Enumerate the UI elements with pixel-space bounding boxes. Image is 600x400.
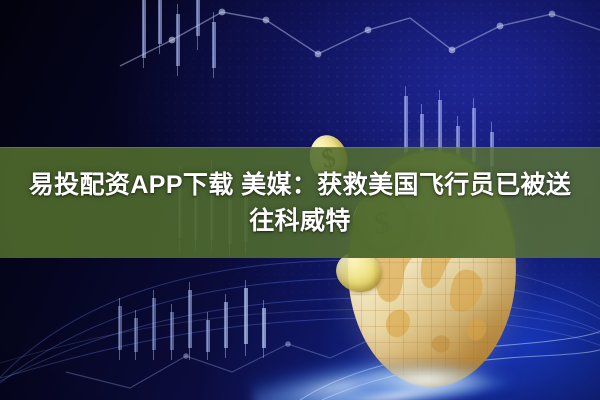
vignette-overlay (0, 0, 600, 400)
news-cover-image: $ $ 易投配资APP下载 美媒：获救美国飞行员已被送 往科威特 (0, 0, 600, 400)
